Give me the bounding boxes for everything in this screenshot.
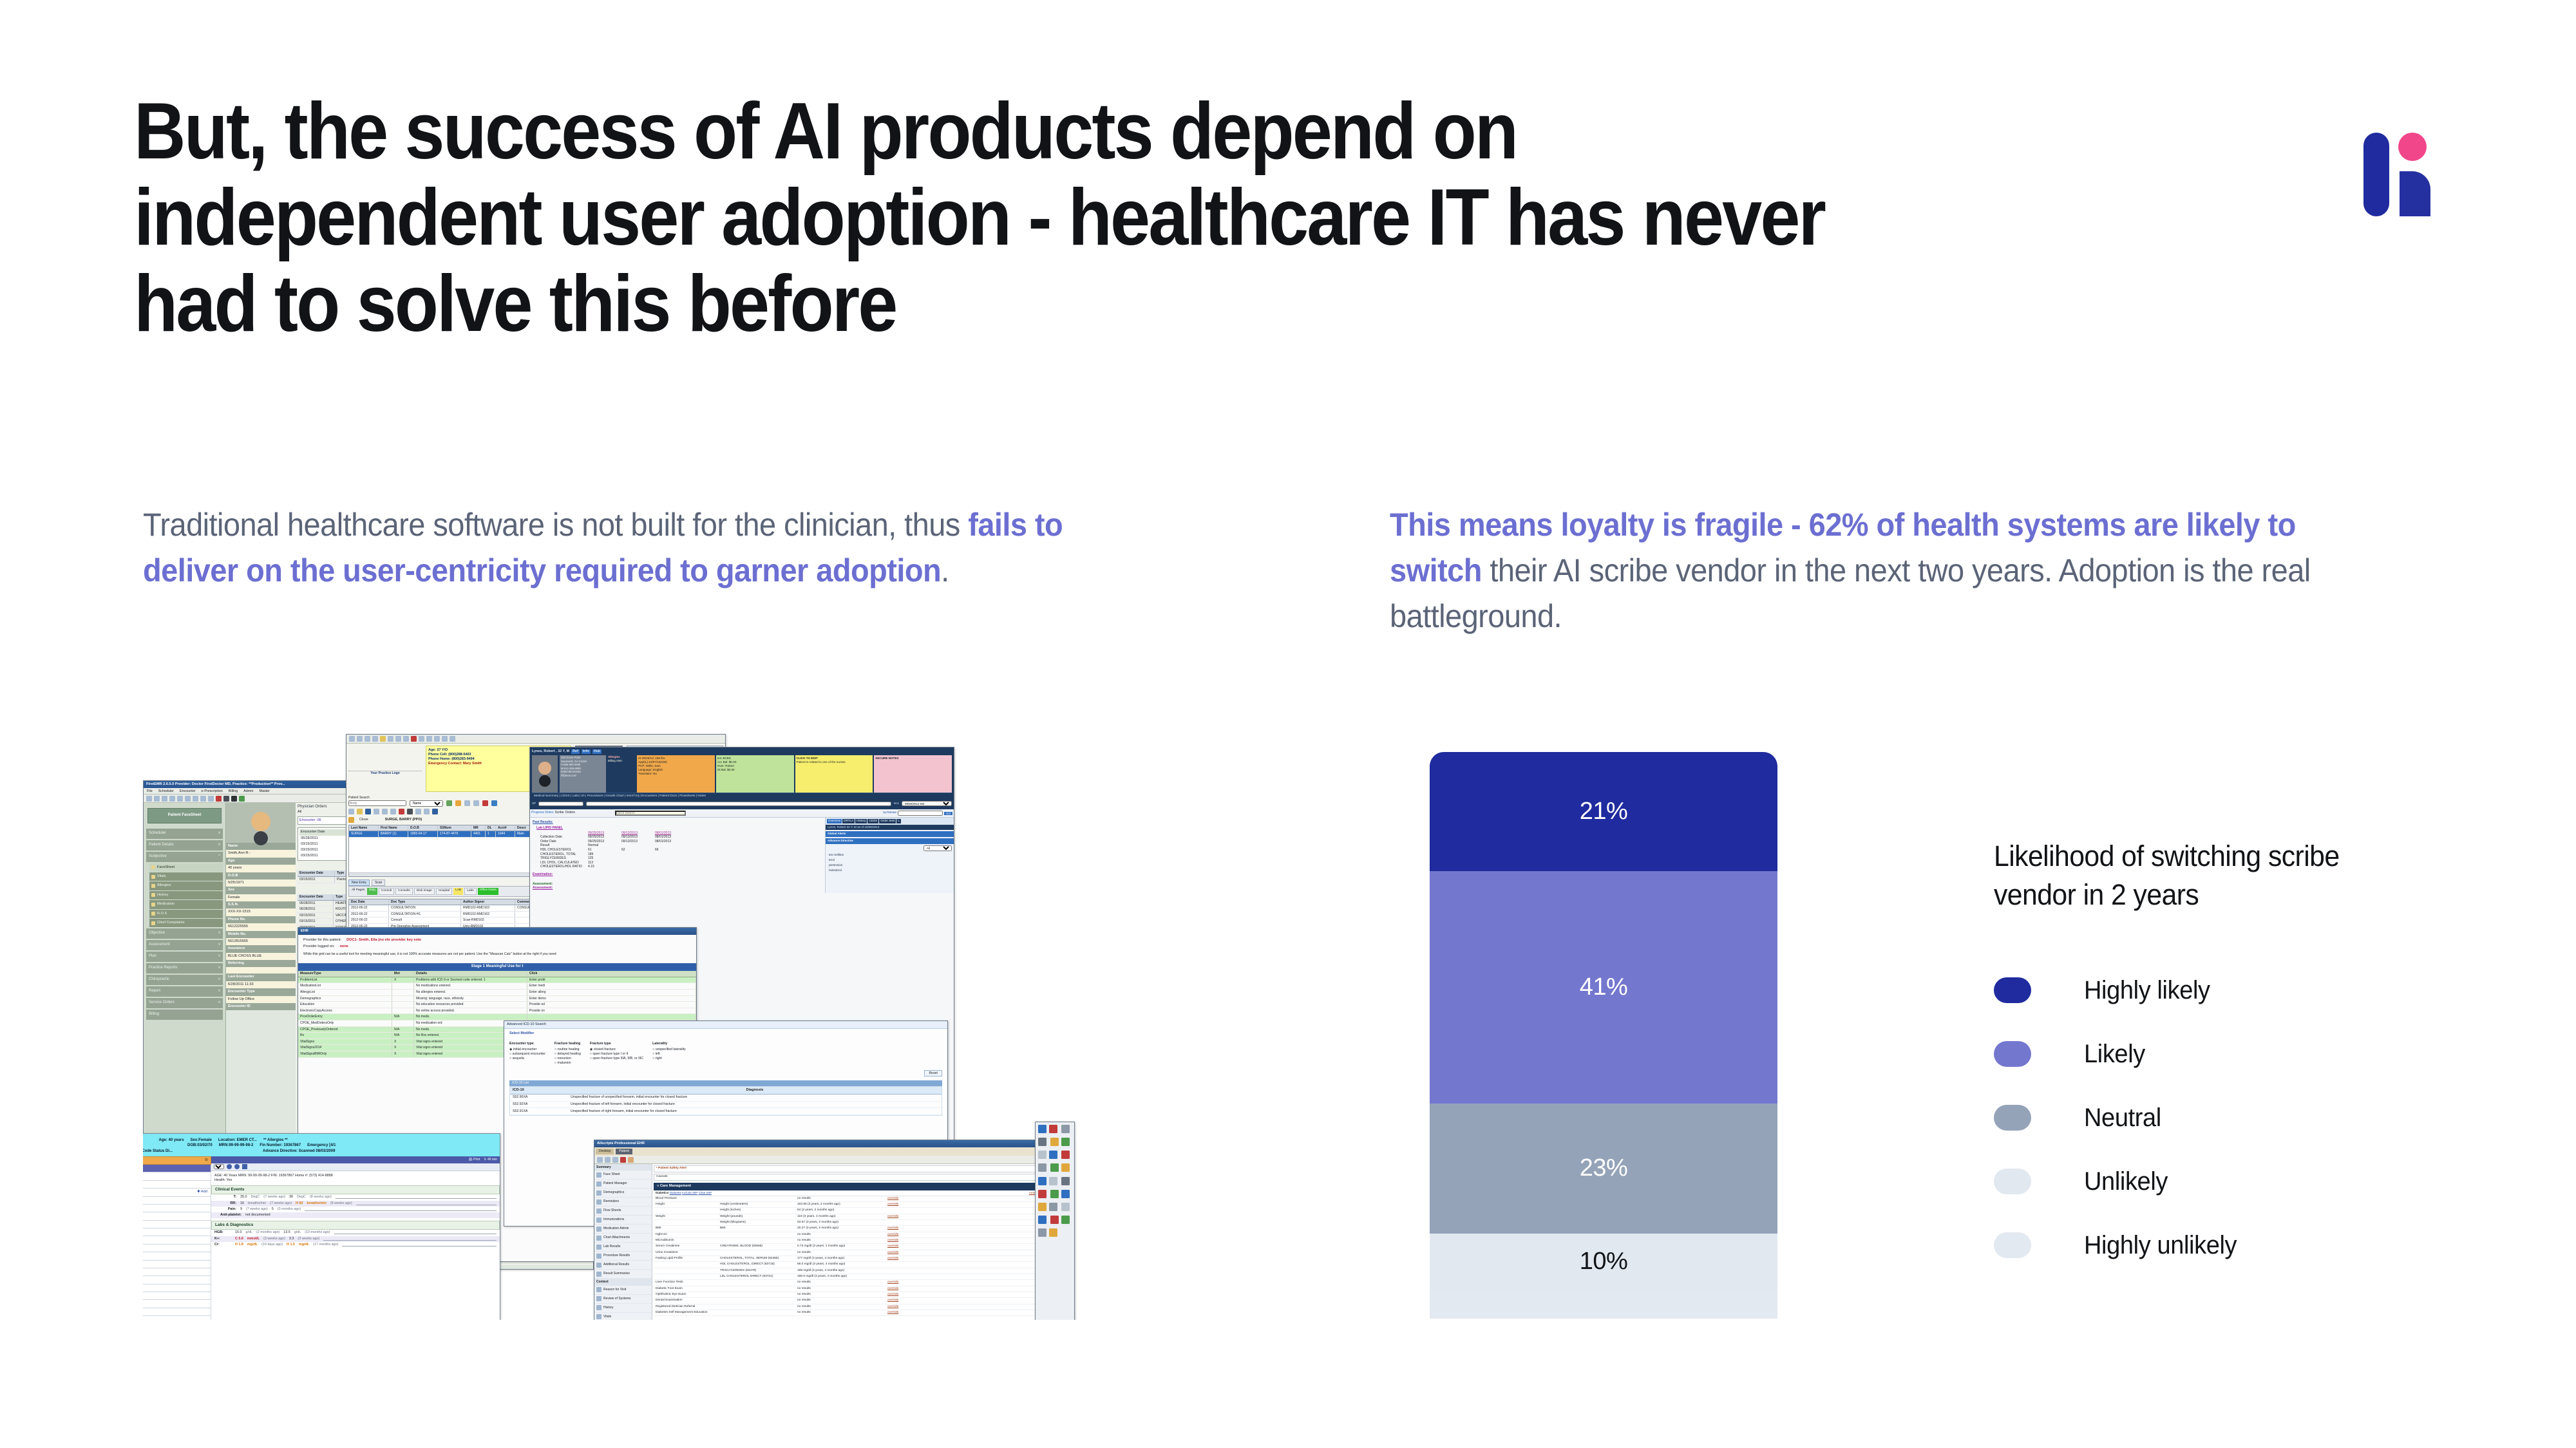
group-laterality: Laterality ○ unspecified laterality ○ le…	[652, 1042, 686, 1065]
link-include-imp[interactable]: Include IMP	[682, 1191, 697, 1194]
tab-desktop[interactable]: Desktop	[596, 1149, 614, 1154]
segment-highly-unlikely[interactable]	[1430, 1290, 1777, 1319]
toc-item-histories[interactable]: Histories	[143, 1197, 211, 1205]
group-fracture-type: Fracture type ◉ closed fracture ○ open f…	[590, 1042, 643, 1065]
patient-facesheet-button[interactable]: Patient FaceSheet	[147, 808, 222, 823]
toc-item-vs[interactable]: VS	[143, 1245, 211, 1252]
uptodate-go-button[interactable]: GO	[944, 812, 952, 816]
tab-cdss[interactable]: CDSS	[867, 819, 878, 823]
toc-item-medication-profile[interactable]: Medication Profile	[143, 1205, 211, 1212]
nav-procedures[interactable]: Procedures	[587, 795, 603, 798]
cell-override[interactable]: override	[885, 1256, 920, 1261]
lab-row-label: Result	[540, 843, 588, 848]
problem-filter-select[interactable]: All	[923, 845, 952, 851]
strip-icon[interactable]	[1038, 1177, 1046, 1185]
people-icon[interactable]	[407, 809, 413, 814]
cell-action[interactable]: Provide ed	[527, 1002, 696, 1008]
sparkline	[323, 1237, 497, 1241]
toc-item-direct-charting[interactable]: Direct Charting	[143, 1276, 211, 1284]
toolbar-icon[interactable]	[357, 736, 363, 742]
cell-override[interactable]: override	[885, 1214, 920, 1219]
strip-icon[interactable]	[1049, 1125, 1057, 1133]
stop-icon[interactable]	[482, 800, 488, 806]
tag-info[interactable]: Info	[582, 749, 591, 754]
sidebar-item-facesheet[interactable]: FaceSheet	[149, 863, 223, 872]
results-icon	[596, 1263, 601, 1268]
cell: CREATININE, BLOOD (82565)	[718, 1244, 795, 1249]
toc-item-clinical-notes[interactable]: Clinical Notes	[143, 1181, 211, 1189]
col-header: Last Name	[349, 825, 379, 831]
sidebar-item-report[interactable]: Reportv	[146, 986, 223, 997]
toolbar-icon[interactable]	[223, 796, 229, 802]
sidebar-item-plan[interactable]: Planv	[146, 952, 223, 962]
tab-labs[interactable]: Labs	[464, 888, 476, 894]
cell: no results	[795, 1304, 885, 1310]
rail-item[interactable]: Immunizations	[594, 1216, 652, 1225]
toolbar-icon[interactable]	[597, 1157, 603, 1163]
toc-item-iview[interactable]: I-View	[143, 1292, 211, 1300]
rail-item[interactable]: Vitals	[594, 1313, 652, 1320]
tab-office-notes[interactable]: Office Notes	[478, 888, 498, 894]
card-icon[interactable]	[491, 800, 497, 806]
toolbar-icon[interactable]	[200, 796, 206, 802]
cell-override[interactable]: override	[885, 1280, 920, 1285]
tab-lab[interactable]: LAB	[453, 888, 463, 894]
strip-icon[interactable]	[1061, 1203, 1070, 1211]
cell-action[interactable]: Provide on	[527, 1008, 696, 1014]
menu-eprescription[interactable]: e-Prescription	[202, 789, 223, 793]
cell-action[interactable]: Enter probl	[527, 977, 696, 983]
menu-encounter[interactable]: Encounter	[180, 789, 196, 793]
orders-filter-all[interactable]: All	[298, 810, 301, 814]
toc-item-pathology[interactable]: Pathology	[143, 1212, 211, 1220]
cell	[654, 1262, 718, 1267]
toc-item-orders[interactable]: Orders	[143, 1284, 211, 1292]
forward-icon[interactable]	[234, 1164, 240, 1169]
cell: BARRY (1)	[379, 831, 408, 837]
sidebar-item-assessment[interactable]: Assessmentv	[146, 940, 223, 950]
legend-item-neutral[interactable]: Neutral	[1994, 1086, 2445, 1150]
demo-label: Referring	[226, 960, 296, 967]
legend-label-likely: Likely	[2084, 1040, 2145, 1069]
sidebar-item-allergies[interactable]: Allergies	[149, 881, 223, 890]
enc-label: Enc	[894, 802, 899, 805]
card-click-to-edit[interactable]: CLICK TO EDIT Patient is related to one …	[795, 755, 873, 793]
rail-item[interactable]: Additional Results	[594, 1261, 652, 1270]
cell: 4401	[471, 831, 486, 837]
rail-item[interactable]: Patient Manager	[594, 1180, 652, 1189]
toolbar-icon-record[interactable]	[216, 796, 222, 802]
rail-item[interactable]: Lab Results	[594, 1243, 652, 1252]
reset-button[interactable]: Reset	[924, 1070, 942, 1077]
cell: S52.91XA	[510, 1108, 568, 1114]
legend-item-unlikely[interactable]: Unlikely	[1994, 1150, 2445, 1214]
radio-sequela[interactable]: ○ sequela	[509, 1057, 545, 1061]
rail-item[interactable]: Reminders	[594, 1198, 652, 1207]
strip-icon[interactable]	[1038, 1203, 1046, 1211]
strip-icon[interactable]	[1038, 1163, 1046, 1172]
nav-growth-chart[interactable]: Growth Chart	[605, 795, 624, 798]
panel-advance-directive[interactable]: Advance Directive	[826, 838, 954, 844]
cell: Urine Creatinine	[654, 1250, 718, 1255]
pin-icon[interactable]: ☉	[205, 1158, 208, 1163]
nav-cdss[interactable]: CDSS	[561, 795, 569, 798]
nav-di[interactable]: DI	[582, 795, 585, 798]
toolbar-icon[interactable]	[169, 796, 175, 802]
zebra-banner-line: AGE: 40 Years MRN: 99-99-99-98-2 FIN: 19…	[211, 1171, 500, 1185]
radio-routine-healing[interactable]: ○ routine healing	[554, 1048, 581, 1052]
radio-delayed-healing[interactable]: ○ delayed healing	[554, 1052, 581, 1057]
cell-override[interactable]: override	[885, 1304, 920, 1310]
toolbar-icon[interactable]	[419, 736, 424, 742]
tool-icon[interactable]	[432, 809, 438, 814]
tab-history[interactable]: History	[855, 819, 867, 823]
folder-icon[interactable]	[348, 817, 354, 823]
tab-patient[interactable]: Patient	[616, 1149, 632, 1154]
strip-icon[interactable]	[1038, 1216, 1046, 1224]
segment-neutral[interactable]: 23%	[1430, 1104, 1777, 1234]
search-icon[interactable]	[446, 800, 452, 806]
cell: 61	[588, 848, 621, 852]
doc-icon[interactable]	[464, 800, 470, 806]
rail-item[interactable]: Medication Admin	[594, 1225, 652, 1234]
toolbar-icon[interactable]	[162, 796, 167, 802]
sidebar-item-billing[interactable]: Billing	[146, 1010, 223, 1020]
tool-icon[interactable]	[348, 809, 354, 814]
sidebar-item-chief-complaints[interactable]: Chief Complaints	[149, 919, 223, 927]
tab-scribe[interactable]: Scribe	[554, 811, 563, 816]
menu-file[interactable]: File	[147, 789, 153, 793]
strip-icon[interactable]	[1061, 1138, 1070, 1146]
toolbar-icon[interactable]	[349, 736, 355, 742]
radio-subsequent-encounter[interactable]: ○ subsequent encounter	[509, 1052, 545, 1057]
tab-scan[interactable]: Scan	[372, 879, 385, 887]
rail-item[interactable]: Flow Sheets	[594, 1207, 652, 1216]
col-header: Details	[414, 971, 527, 977]
toolbar-icon[interactable]	[620, 1157, 626, 1163]
cell-override[interactable]: override	[885, 1226, 920, 1231]
toc-item-diagnostic-reports[interactable]: Diagnostic Reports	[143, 1236, 211, 1244]
rail-item[interactable]: Review of Systems	[594, 1295, 652, 1304]
sidebar-item-ros[interactable]: R.O.S	[149, 910, 223, 918]
sidebar-item-service-orders[interactable]: Service Ordersv	[146, 998, 223, 1008]
search-field[interactable]	[586, 802, 891, 806]
nav-medical-summary[interactable]: Medical Summary	[534, 795, 558, 798]
provider-logged-label: Provider logged on:	[303, 945, 335, 949]
tool-icon[interactable]	[374, 809, 379, 814]
eye-icon[interactable]	[365, 809, 371, 814]
add-label[interactable]: Add	[201, 1190, 207, 1194]
cell: 08/01/2013	[655, 840, 688, 844]
cell: MedicationList	[298, 983, 392, 989]
cell: No meds.	[414, 1014, 527, 1020]
table-row[interactable]: S52.91XAUnspecified fracture of right fo…	[510, 1108, 942, 1115]
radio-open-fracture-i-ii[interactable]: ○ open fracture type I or II	[590, 1052, 643, 1057]
strip-icon[interactable]	[1061, 1216, 1070, 1224]
toolbar-icon-play[interactable]	[239, 796, 245, 802]
strip-icon[interactable]	[1038, 1190, 1046, 1198]
cell-override[interactable]: override	[885, 1286, 920, 1292]
cell: Problems with ICD-9 or Snomed code enter…	[414, 977, 527, 983]
cell	[654, 1268, 718, 1274]
tab-hospital[interactable]: Hospital	[436, 888, 452, 894]
rail-item[interactable]: Chart Attachments	[594, 1234, 652, 1243]
billing-alert-flag: Billing Alert	[608, 759, 635, 763]
ehr-window-icon-strip	[1035, 1122, 1075, 1320]
uptodate-input[interactable]	[898, 811, 943, 816]
key-icon[interactable]	[455, 800, 461, 806]
quick-search-input[interactable]	[615, 811, 686, 816]
sidebar-item-chiropractic[interactable]: Chiropracticv	[146, 975, 223, 985]
strip-icon[interactable]	[1061, 1163, 1070, 1172]
nav-flowsheets[interactable]: Flowsheets	[679, 795, 695, 798]
heart-icon[interactable]	[399, 809, 404, 814]
cell-override[interactable]: override	[885, 1232, 920, 1237]
cell: Ophthalmic Eye Exam	[654, 1292, 718, 1297]
rail-item[interactable]: History	[594, 1304, 652, 1313]
strip-icon[interactable]	[1061, 1190, 1070, 1198]
col-header: Doc Type	[389, 899, 461, 905]
strip-icon[interactable]	[1061, 1125, 1070, 1133]
toc-item-radiology[interactable]: Radiology	[143, 1228, 211, 1236]
strip-icon[interactable]	[1050, 1216, 1059, 1224]
rail-item[interactable]: Procedure Results	[594, 1252, 652, 1261]
toolbar-icon[interactable]	[231, 796, 237, 802]
examination-label[interactable]: Examination:	[533, 872, 822, 877]
patient-search-input[interactable]	[348, 800, 406, 806]
toolbar-icon-save[interactable]	[365, 736, 370, 742]
segment-highly-likely[interactable]: 21%	[1430, 752, 1777, 871]
back-icon[interactable]	[227, 1164, 232, 1169]
reminder-icon	[596, 1199, 601, 1205]
tab-l[interactable]: L	[896, 819, 901, 823]
sidebar-item-history[interactable]: History	[149, 891, 223, 899]
toolbar-icon[interactable]	[185, 796, 191, 802]
tab-overview[interactable]: Overview	[827, 819, 842, 823]
strip-icon[interactable]	[1038, 1125, 1046, 1133]
assessment-sublabel[interactable]: Assessment:	[533, 886, 822, 890]
doc-icon[interactable]	[473, 800, 479, 806]
strip-icon[interactable]	[1049, 1177, 1057, 1185]
patient-safety-alert[interactable]: • Patient Safety Alert	[654, 1165, 1072, 1172]
nav-patient-docs[interactable]: Patient Docs	[659, 795, 677, 798]
cell-override[interactable]: override	[885, 1196, 920, 1201]
cell-action[interactable]: Enter allerg	[527, 990, 696, 995]
cell-override[interactable]: override	[885, 1298, 920, 1303]
sidebar-item-vitals[interactable]: Vitals	[149, 872, 223, 881]
tab-consults[interactable]: Consults	[395, 888, 413, 894]
sheet-icon	[596, 1172, 601, 1178]
radio-initial-encounter[interactable]: ◉ initial encounter	[509, 1048, 545, 1052]
strip-icon[interactable]	[1049, 1151, 1057, 1159]
lab-panel-title[interactable]: Lab LIPID PANEL	[536, 826, 822, 831]
chevron-down-icon: v	[218, 831, 220, 836]
nav-labs[interactable]: Labs	[573, 795, 579, 798]
cell-override[interactable]: override	[885, 1202, 920, 1207]
radio-open-fracture-iii[interactable]: ○ open fracture type IIIA, IIIB, or IIIC	[590, 1057, 643, 1061]
panel-global-alerts[interactable]: Global Alerts	[826, 831, 954, 837]
right-copy-rest: their AI scribe vendor in the next two y…	[1390, 552, 2311, 634]
toc-item-task-list[interactable]: Task List	[143, 1268, 211, 1276]
cell-override[interactable]: override	[885, 1244, 920, 1249]
radio-nonunion[interactable]: ○ nonunion	[554, 1057, 581, 1061]
toolbar-icon[interactable]	[154, 796, 160, 802]
link-clear-imp[interactable]: Clear IMP	[699, 1191, 712, 1194]
strip-icon[interactable]	[1061, 1177, 1070, 1185]
cell: no results	[795, 1238, 885, 1243]
rail-item[interactable]: Reason for Visit	[594, 1286, 652, 1295]
patient-search-field-select[interactable]: Name	[410, 800, 443, 807]
strip-icon[interactable]	[1038, 1151, 1046, 1159]
sidebar-item-medication[interactable]: Medication	[149, 900, 223, 908]
legend-item-highly-unlikely[interactable]: Highly unlikely	[1994, 1214, 2445, 1277]
strip-icon[interactable]	[1050, 1163, 1059, 1172]
toolbar-icon[interactable]	[380, 736, 386, 742]
sp-input[interactable]	[538, 802, 583, 806]
toc-item-intake-output[interactable]: Intake and Output	[143, 1252, 211, 1260]
menu-master[interactable]: Master	[259, 789, 269, 793]
print-button[interactable]: 🖨 Print	[468, 1158, 480, 1162]
cell	[885, 1268, 920, 1274]
cell-action[interactable]: Enter demo	[527, 996, 696, 1002]
sidebar-item-practice-reports[interactable]: Practice Reportsv	[146, 963, 223, 973]
refresh-timer[interactable]: ↻ 46 min	[484, 1158, 497, 1162]
demo-value: 40 years	[226, 865, 296, 872]
toc-item-patient-summary[interactable]: Patient Summary	[143, 1165, 211, 1172]
avatar[interactable]	[628, 1157, 634, 1163]
view-select[interactable]	[214, 1164, 224, 1169]
menu-scheduler[interactable]: Scheduler	[158, 789, 174, 793]
toc-item-postoperative-summary[interactable]: Postoperative Summ...	[143, 1300, 211, 1308]
radio-unspecified-laterality[interactable]: ○ unspecified laterality	[652, 1048, 686, 1052]
icd10-dialog-title: Advanced ICD-10 Search	[504, 1021, 947, 1029]
segment-label-likely: 41%	[1580, 973, 1628, 1001]
rail-item[interactable]: Face Sheet	[594, 1171, 652, 1180]
nav-imm[interactable]: Imm/T.Inj	[627, 795, 639, 798]
toolbar-icon[interactable]	[605, 1157, 611, 1163]
cell: no results	[795, 1292, 885, 1297]
strip-icon[interactable]	[1050, 1190, 1059, 1198]
toolbar-icon[interactable]	[612, 1157, 618, 1163]
toc-item-all-results[interactable]: All Results	[143, 1308, 211, 1316]
tool-icon[interactable]	[424, 809, 430, 814]
legend-item-likely[interactable]: Likely	[1994, 1022, 2445, 1086]
chevron-up-icon: ^	[218, 854, 220, 860]
tab-order-sets[interactable]: Order Sets	[879, 819, 896, 823]
toolbar-icon[interactable]	[442, 736, 448, 742]
toolbar-icon[interactable]	[146, 796, 152, 802]
tab-disk-image[interactable]: Disk Image	[414, 888, 435, 894]
strip-icon[interactable]	[1038, 1228, 1046, 1237]
toc-item-patient-information[interactable]: Patient Information	[143, 1172, 211, 1180]
cell-override[interactable]: override	[885, 1292, 920, 1297]
strip-icon[interactable]	[1061, 1151, 1070, 1159]
toolbar-icon-print[interactable]	[434, 736, 440, 742]
toolbar-icon[interactable]	[395, 736, 401, 742]
tool-icon[interactable]	[390, 809, 396, 814]
strip-icon[interactable]	[1050, 1138, 1059, 1146]
tab-orders[interactable]: Orders	[565, 811, 575, 816]
col-header: Diagnosis	[568, 1087, 942, 1093]
sidebar-item-patient-details[interactable]: Patient Detailsv	[146, 840, 223, 851]
tab-bldg[interactable]: Bldg	[367, 888, 377, 894]
rail-item[interactable]: Result Summaries	[594, 1270, 652, 1279]
tab-progress-notes[interactable]: Progress Notes	[531, 811, 553, 816]
close-button[interactable]: Close	[359, 818, 368, 822]
tab-consult[interactable]: Consult	[379, 888, 394, 894]
tool-icon[interactable]	[382, 809, 388, 814]
sidebar-item-scheduler[interactable]: Schedulerv	[146, 829, 223, 839]
tab-drtla[interactable]: DRTLA	[842, 819, 855, 823]
encounter-select[interactable]: 09/26/2013 SW	[902, 801, 952, 806]
toolbar-icon[interactable]	[411, 736, 417, 742]
strip-icon[interactable]	[1049, 1203, 1057, 1211]
tag-hub[interactable]: Hub	[592, 749, 601, 754]
toolbar-icon[interactable]	[388, 736, 393, 742]
cell-override[interactable]: override	[885, 1250, 920, 1255]
toc-item-health-maintenance[interactable]: Health Maintenance	[143, 1316, 211, 1320]
tool-icon[interactable]	[415, 809, 421, 814]
radio-closed-fracture[interactable]: ◉ closed fracture	[590, 1048, 643, 1052]
toolbar-icon[interactable]	[193, 796, 198, 802]
group-fracture-healing: Fracture healing ○ routine healing ○ del…	[554, 1042, 581, 1065]
card-secure-notes[interactable]: SECURE NOTES	[874, 755, 952, 793]
tab-all-pages[interactable]: All Pages	[350, 888, 366, 894]
sidebar-item-objective[interactable]: Objectivev	[146, 928, 223, 939]
tab-new-entry[interactable]: New Entry	[348, 879, 370, 887]
legend-item-highly-likely[interactable]: Highly likely	[1994, 959, 2445, 1022]
radio-malunion[interactable]: ○ malunion	[554, 1061, 581, 1066]
toolbar-icon[interactable]	[177, 796, 183, 802]
toolbar-icon[interactable]	[208, 796, 214, 802]
toc-item-form-browser[interactable]: Form Browser	[143, 1261, 211, 1268]
nav-notes[interactable]: Notes	[697, 795, 706, 798]
table-row[interactable]: S52.90XAUnspecified fracture of unspecif…	[510, 1095, 942, 1102]
strip-icon[interactable]	[1049, 1228, 1057, 1237]
toc-item-microbiology-viewer[interactable]: Microbiology Viewer	[143, 1221, 211, 1228]
link-diabetes[interactable]: Diabetes	[670, 1191, 681, 1194]
cell-action[interactable]: Enter medi	[527, 983, 696, 989]
cell-override[interactable]: override	[885, 1310, 920, 1315]
table-row: EducationNo education resources provided…	[298, 1002, 696, 1008]
tag-ref[interactable]: Ref	[571, 749, 580, 754]
cell: ElectronicCopyAccess	[298, 1008, 392, 1014]
segment-unlikely[interactable]: 10%	[1430, 1234, 1777, 1290]
home-icon[interactable]	[242, 1164, 247, 1169]
table-row: Fasting Lipid ProfileCHOLESTEROL, TOTAL,…	[654, 1256, 1072, 1262]
toolbar-icon[interactable]	[403, 736, 409, 742]
radio-right[interactable]: ○ right	[652, 1057, 686, 1061]
radio-left[interactable]: ○ left	[652, 1052, 686, 1057]
demo-value: Smith,Ann R.-	[226, 850, 296, 857]
menu-billing[interactable]: Billing	[229, 789, 238, 793]
tool-icon[interactable]	[357, 809, 363, 814]
table-row: AllergyListNo allergies entered.Enter al…	[298, 990, 696, 996]
toc-item-document-viewing[interactable]: Document Viewing✚ Add	[143, 1189, 211, 1196]
toolbar-icon[interactable]	[372, 736, 378, 742]
sidebar-item-subjective[interactable]: Subjective^	[146, 852, 223, 862]
rail-item[interactable]: Demographics	[594, 1189, 652, 1198]
strip-icon[interactable]	[1038, 1138, 1046, 1146]
toolbar-icon[interactable]	[450, 736, 455, 742]
nav-encounters[interactable]: Encounters	[641, 795, 657, 798]
table-row[interactable]: S52.92XAUnspecified fracture of left for…	[510, 1102, 942, 1109]
cell: X	[392, 977, 414, 983]
toolbar-icon[interactable]	[426, 736, 432, 742]
segment-likely[interactable]: 41%	[1430, 871, 1777, 1104]
cell-override[interactable]: override	[885, 1238, 920, 1243]
menu-admin[interactable]: Admin	[243, 789, 253, 793]
